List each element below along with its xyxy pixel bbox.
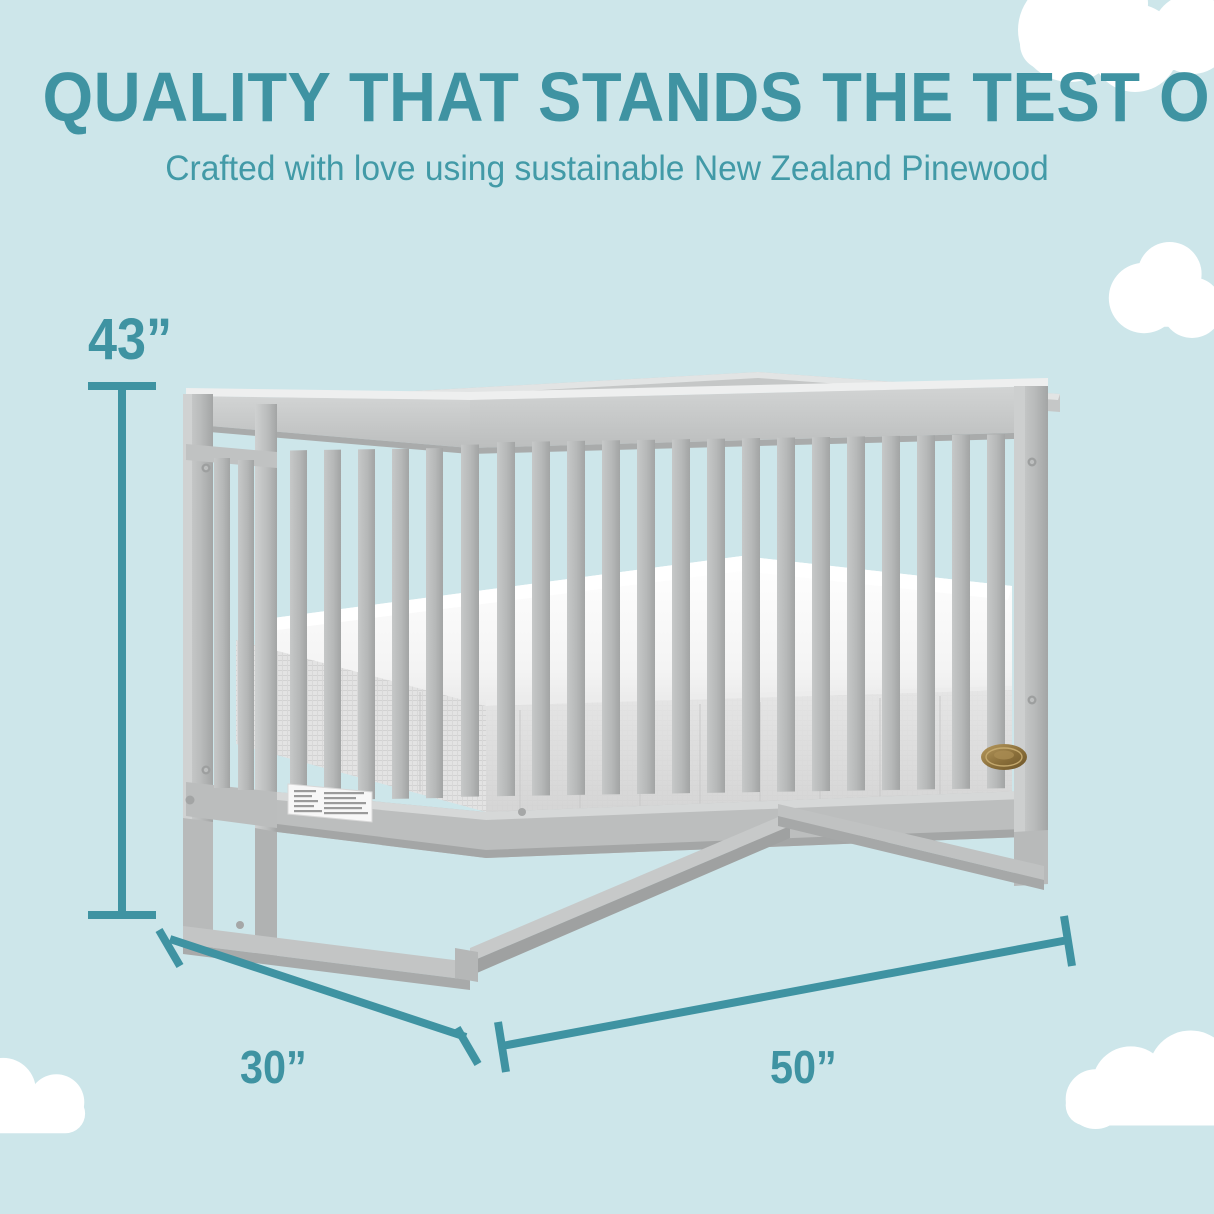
dimension-line-depth — [159, 930, 478, 1064]
dimension-label-height: 43” — [88, 306, 172, 373]
infographic-canvas: QUALITY THAT STANDS THE TEST OF TIME Cra… — [0, 0, 1214, 1214]
page-headline: QUALITY THAT STANDS THE TEST OF TIME — [42, 60, 1171, 134]
page-subheadline: Crafted with love using sustainable New … — [24, 148, 1189, 190]
dimension-label-depth: 30” — [240, 1040, 307, 1094]
dimension-line-height — [88, 386, 156, 915]
dimension-label-width: 50” — [770, 1040, 837, 1094]
